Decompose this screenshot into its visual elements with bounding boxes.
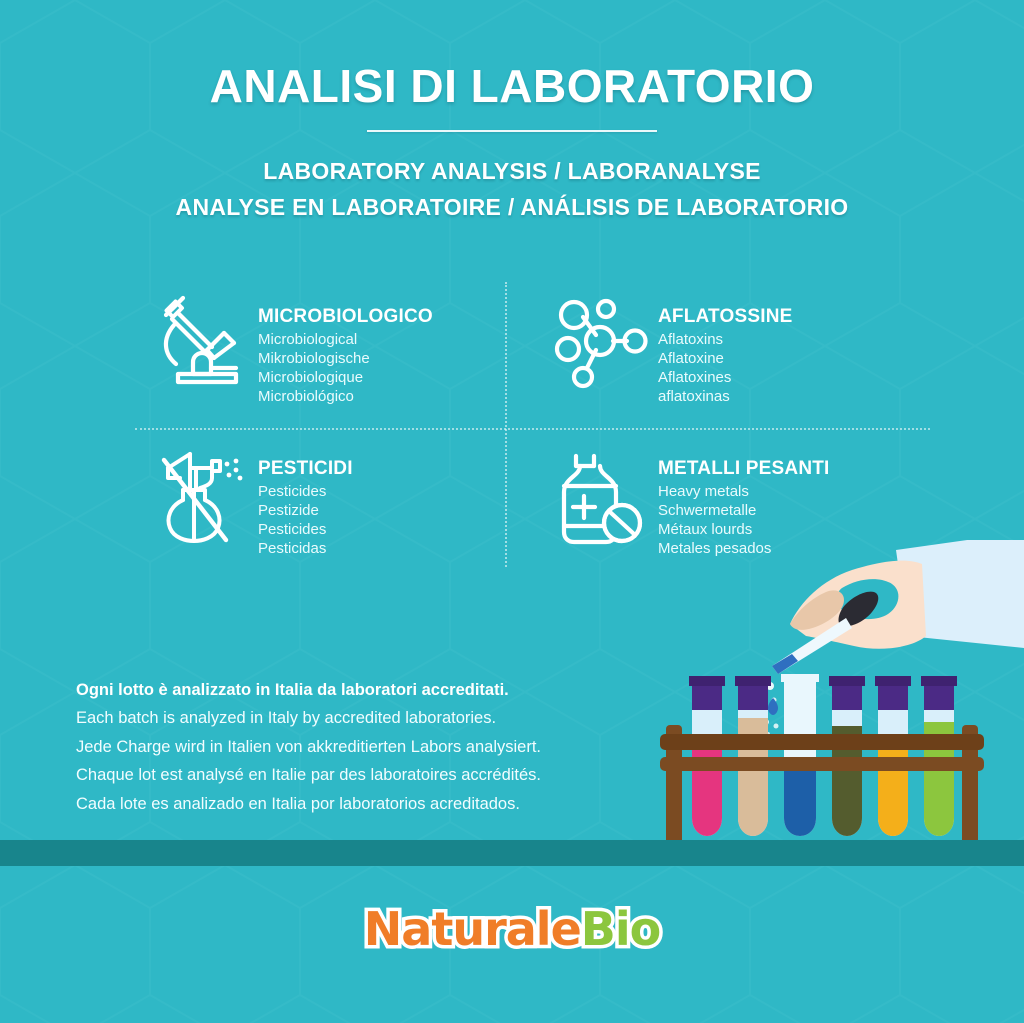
logo-part-bio: Bio [581, 902, 660, 956]
feature-grid: MICROBIOLOGICO Microbiological Mikrobiol… [150, 292, 930, 577]
feature-translation-en: Aflatoxins [658, 330, 793, 349]
feature-microbiologico: MICROBIOLOGICO Microbiological Mikrobiol… [150, 292, 433, 406]
feature-pesticidi: PESTICIDI Pesticides Pestizide Pesticide… [150, 444, 353, 558]
pipette-tip [772, 654, 798, 674]
title-divider [367, 130, 657, 132]
feature-heading: AFLATOSSINE [658, 306, 793, 328]
vertical-divider [505, 282, 507, 567]
lab-illustration [640, 540, 1024, 860]
statement-line-de: Jede Charge wird in Italien von akkredit… [76, 733, 616, 761]
droplet-blue [768, 698, 778, 715]
accreditation-statement: Ogni lotto è analizzato in Italia da lab… [76, 676, 616, 818]
test-tubes [689, 674, 957, 836]
medicine-bottle-no-icon [550, 444, 650, 549]
feature-translation-fr: Microbiologique [258, 368, 433, 387]
subtitle-block: LABORATORY ANALYSIS / LABORANALYSE ANALY… [0, 154, 1024, 225]
feature-text: MICROBIOLOGICO Microbiological Mikrobiol… [258, 292, 433, 406]
feature-translation-de: Pestizide [258, 501, 353, 520]
droplet [774, 724, 779, 729]
feature-translation-es: Microbiológico [258, 387, 433, 406]
brand-logo: NaturaleBio [0, 902, 1024, 956]
statement-line-fr: Chaque lot est analysé en Italie par des… [76, 761, 616, 789]
statement-line-it: Ogni lotto è analizzato in Italia da lab… [76, 676, 616, 704]
feature-aflatossine: AFLATOSSINE Aflatoxins Aflatoxine Aflato… [550, 292, 793, 406]
feature-heading: METALLI PESANTI [658, 458, 830, 480]
feature-translation-en: Heavy metals [658, 482, 830, 501]
microscope-icon [150, 292, 250, 397]
feature-heading: PESTICIDI [258, 458, 353, 480]
feature-translation-de: Schwermetalle [658, 501, 830, 520]
feature-translation-fr: Pesticides [258, 520, 353, 539]
infographic-root: ANALISI DI LABORATORIO LABORATORY ANALYS… [0, 0, 1024, 1023]
table-surface-band [0, 840, 1024, 866]
feature-translation-de: Aflatoxine [658, 349, 793, 368]
horizontal-divider [135, 428, 930, 430]
feature-translation-es: aflatoxinas [658, 387, 793, 406]
feature-translation-fr: Métaux lourds [658, 520, 830, 539]
subtitle-line-1: LABORATORY ANALYSIS / LABORANALYSE [0, 154, 1024, 190]
feature-translation-en: Pesticides [258, 482, 353, 501]
feature-translation-es: Pesticidas [258, 539, 353, 558]
feature-translation-de: Mikrobiologische [258, 349, 433, 368]
statement-line-es: Cada lote es analizado en Italia por lab… [76, 790, 616, 818]
subtitle-line-2: ANALYSE EN LABORATOIRE / ANÁLISIS DE LAB… [0, 190, 1024, 226]
feature-translation-en: Microbiological [258, 330, 433, 349]
feature-text: AFLATOSSINE Aflatoxins Aflatoxine Aflato… [658, 292, 793, 406]
statement-line-en: Each batch is analyzed in Italy by accre… [76, 704, 616, 732]
spray-bottle-no-icon [150, 444, 250, 549]
molecule-icon [550, 292, 650, 397]
feature-text: PESTICIDI Pesticides Pestizide Pesticide… [258, 444, 353, 558]
header: ANALISI DI LABORATORIO LABORATORY ANALYS… [0, 62, 1024, 226]
page-title: ANALISI DI LABORATORIO [0, 62, 1024, 110]
feature-heading: MICROBIOLOGICO [258, 306, 433, 328]
logo-part-naturale: Naturale [364, 902, 581, 956]
feature-translation-fr: Aflatoxines [658, 368, 793, 387]
